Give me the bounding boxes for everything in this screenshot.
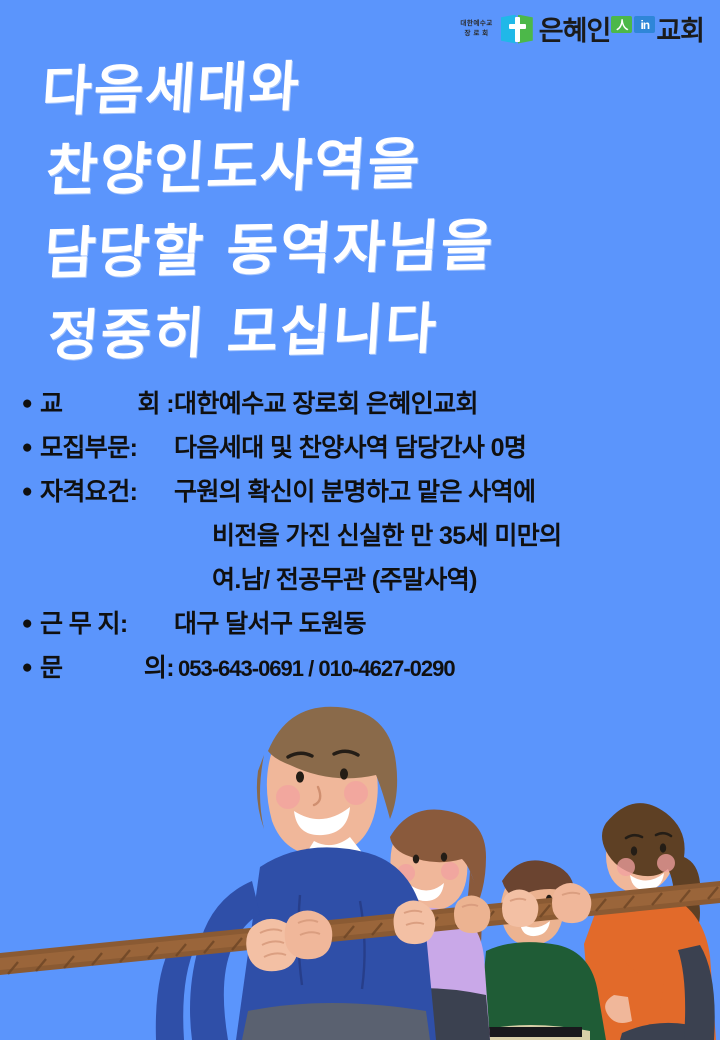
detail-label-right: 의: <box>144 656 174 681</box>
bullet-icon: ● <box>14 658 40 677</box>
detail-row: ●근 무 지:대구 달서구 도원동 <box>14 612 714 637</box>
detail-label-left: 근 무 지: <box>40 612 128 637</box>
detail-label: 자격요건: <box>40 480 174 505</box>
headline-line-1: 다음세대와 <box>39 40 685 132</box>
headline-line-3: 담당할 동역자님을 <box>41 201 686 296</box>
open-door-cross-icon <box>500 12 534 46</box>
detail-label-left: 자격요건: <box>40 480 137 505</box>
denomination-line-2: 장 로 회 <box>465 29 489 38</box>
poster-root: 대한예수교 장 로 회 은혜인 人 in 교회 다음세대와 찬양인도사역을 담당… <box>0 0 720 1040</box>
bullet-icon: ● <box>14 482 40 501</box>
detail-row: ●자격요건:구원의 확신이 분명하고 맡은 사역에 <box>14 480 714 505</box>
door-left-leaf <box>501 15 516 44</box>
detail-label: 모집부문: <box>40 436 174 461</box>
detail-row: ●문의:053-643-0691 / 010-4627-0290 <box>14 656 714 681</box>
detail-label-left: 문 <box>40 656 62 681</box>
bullet-icon: ● <box>14 394 40 413</box>
detail-label: 근 무 지: <box>40 612 174 637</box>
tug-of-war-illustration <box>0 695 720 1040</box>
detail-row: ●교회 :대한예수교 장로회 은혜인교회 <box>14 392 714 417</box>
detail-label-left: 모집부문: <box>40 436 137 461</box>
detail-value: 대구 달서구 도원동 <box>174 612 366 637</box>
detail-label-left: 교 <box>40 392 62 417</box>
detail-label: 문의: <box>40 656 174 681</box>
denomination-text: 대한예수교 장 로 회 <box>460 19 494 38</box>
detail-value: 비전을 가진 신실한 만 35세 미만의 <box>174 524 562 549</box>
headline: 다음세대와 찬양인도사역을 담당할 동역자님을 정중히 모십니다 <box>42 52 682 377</box>
badge-person-icon: 人 <box>611 16 632 33</box>
detail-value: 053-643-0691 / 010-4627-0290 <box>174 658 455 680</box>
detail-value: 다음세대 및 찬양사역 담당간사 0명 <box>174 436 526 461</box>
badge-in: in <box>634 16 655 33</box>
detail-row: ●여.남/ 전공무관 (주말사역) <box>14 568 714 593</box>
job-details-list: ●교회 :대한예수교 장로회 은혜인교회●모집부문:다음세대 및 찬양사역 담당… <box>14 392 714 700</box>
detail-value: 구원의 확신이 분명하고 맡은 사역에 <box>174 480 535 505</box>
detail-label: 교회 : <box>40 392 174 417</box>
detail-row: ●모집부문:다음세대 및 찬양사역 담당간사 0명 <box>14 436 714 461</box>
cross-horizontal <box>509 24 526 29</box>
bullet-icon: ● <box>14 614 40 633</box>
cross-vertical <box>515 17 520 42</box>
headline-line-4: 정중히 모십니다 <box>45 284 685 377</box>
headline-line-2: 찬양인도사역을 <box>43 119 686 214</box>
door-right-leaf <box>518 15 533 44</box>
denomination-line-1: 대한예수교 <box>460 19 492 28</box>
detail-label-right: 회 : <box>138 392 174 417</box>
detail-value: 여.남/ 전공무관 (주말사역) <box>174 568 477 593</box>
bullet-icon: ● <box>14 438 40 457</box>
detail-value: 대한예수교 장로회 은혜인교회 <box>174 392 478 417</box>
detail-row: ●비전을 가진 신실한 만 35세 미만의 <box>14 524 714 549</box>
